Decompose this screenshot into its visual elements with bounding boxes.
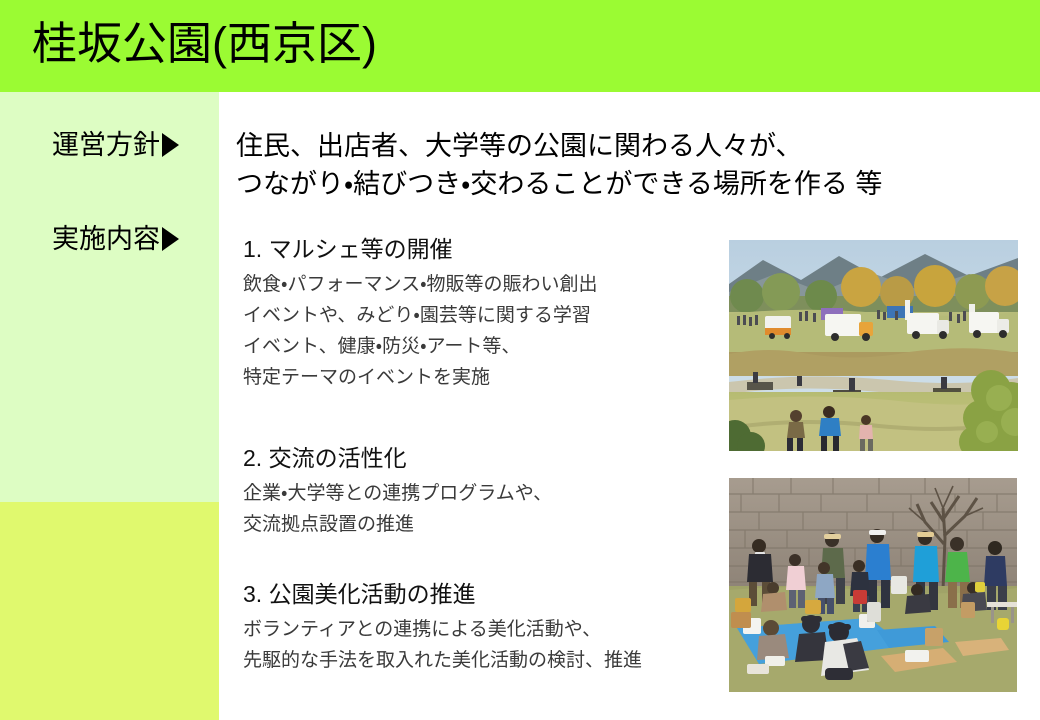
body-line: ボランティアとの連携による美化活動や、: [243, 614, 713, 645]
sidebar-item-policy-label: 運営方針: [52, 128, 160, 162]
section-marche: 1. マルシェ等の開催 飲食・パフォーマンス・物販等の賑わい創出 イベントや、み…: [243, 233, 713, 393]
section-title: 2. 交流の活性化: [243, 442, 713, 475]
community-event-photo: [729, 478, 1017, 692]
policy-line: つながり・結びつき・交わることができる場所を作る 等: [236, 165, 1026, 203]
policy-line: 住民、出店者、大学等の公園に関わる人々が、: [236, 127, 1026, 165]
section-title: 3. 公園美化活動の推進: [243, 578, 713, 611]
policy-statement: 住民、出店者、大学等の公園に関わる人々が、 つながり・結びつき・交わることができ…: [236, 127, 1026, 203]
section-title: 1. マルシェ等の開催: [243, 233, 713, 266]
sidebar-item-policy[interactable]: 運営方針: [52, 128, 179, 162]
sidebar-panel-lower: [0, 502, 219, 720]
section-beautification: 3. 公園美化活動の推進 ボランティアとの連携による美化活動や、 先駆的な手法を…: [243, 578, 713, 676]
body-line: 飲食・パフォーマンス・物販等の賑わい創出: [243, 269, 713, 300]
body-line: イベント、健康・防災・アート等、: [243, 331, 713, 362]
park-marche-photo: [729, 240, 1018, 451]
body-line: 交流拠点設置の推進: [243, 509, 713, 540]
body-line: 先駆的な手法を取入れた美化活動の検討、推進: [243, 645, 713, 676]
page-title: 桂坂公園(西京区): [32, 12, 377, 76]
triangle-right-icon: [162, 227, 179, 251]
slide-root: 桂坂公園(西京区) 運営方針 実施内容 住民、出店者、大学等の公園に関わる人々が…: [0, 0, 1040, 720]
section-exchange: 2. 交流の活性化 企業・大学等との連携プログラムや、 交流拠点設置の推進: [243, 442, 713, 540]
section-body: 飲食・パフォーマンス・物販等の賑わい創出 イベントや、みどり・園芸等に関する学習…: [243, 269, 713, 393]
triangle-right-icon: [162, 133, 179, 157]
body-line: 企業・大学等との連携プログラムや、: [243, 478, 713, 509]
body-line: イベントや、みどり・園芸等に関する学習: [243, 300, 713, 331]
section-body: 企業・大学等との連携プログラムや、 交流拠点設置の推進: [243, 478, 713, 540]
body-line: 特定テーマのイベントを実施: [243, 362, 713, 393]
sidebar-item-actions-label: 実施内容: [52, 222, 160, 256]
section-body: ボランティアとの連携による美化活動や、 先駆的な手法を取入れた美化活動の検討、推…: [243, 614, 713, 676]
sidebar-item-actions[interactable]: 実施内容: [52, 222, 179, 256]
